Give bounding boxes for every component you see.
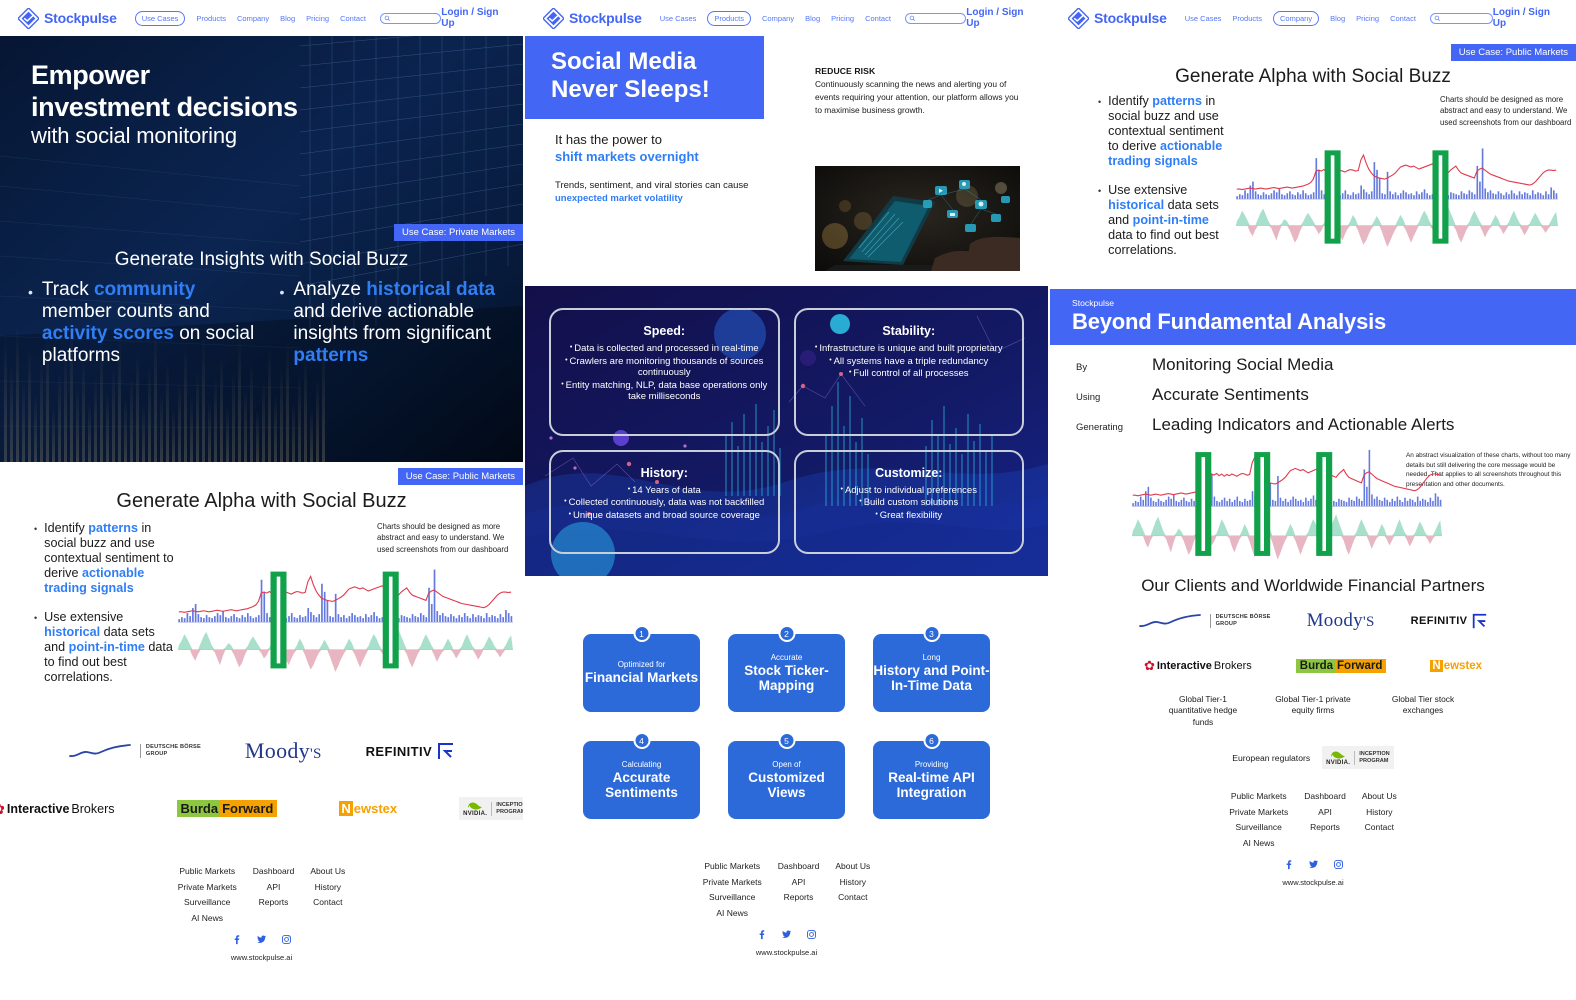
bullet-dot-icon: • [1098,94,1101,170]
capability-kicker: Optimized for [618,660,666,669]
footer-link[interactable]: About Us [310,866,345,876]
feature-card-title: Speed: [561,324,768,338]
step-number-badge: 6 [923,732,940,749]
nav-link-contact[interactable]: Contact [340,14,366,23]
feature-item: Adjust to individual preferences [806,485,1013,497]
nav-link-use-cases[interactable]: Use Cases [660,14,697,23]
partner-logos-row-3b: ✿InteractiveBrokers BurdaForward Newstex [1050,658,1576,674]
brand-name: Stockpulse [44,10,117,26]
search-input[interactable] [380,13,441,24]
bfa-row: Using Accurate Sentiments [1076,385,1576,405]
instagram-icon[interactable] [806,927,817,945]
reduce-risk-title: REDUCE RISK [815,66,1030,76]
feature-item: 14 Years of data [561,485,768,497]
footer-link[interactable]: Reports [259,897,289,907]
alpha-bullet-text: Identify patterns in social buzz and use… [1108,94,1236,170]
footer-link[interactable]: Private Markets [1229,807,1288,817]
usecase-tag-public-markets-3: Use Case: Public Markets [1451,44,1576,61]
feature-item: Entity matching, NLP, data base operatio… [561,380,768,403]
refinitiv-logo: REFINITIV [1411,613,1489,630]
step-number-badge: 2 [778,625,795,642]
nav-link-contact[interactable]: Contact [1390,14,1416,23]
feature-item: Data is collected and processed in real-… [561,343,768,355]
search-icon [909,9,916,27]
footer-col-2: Dashboard API Reports [1304,791,1346,848]
buzz-sentiment-chart-1 [178,565,523,680]
footer-links-1: Public Markets Private Markets Surveilla… [0,866,523,923]
twitter-icon[interactable] [256,932,267,950]
interactive-brokers-logo: ✿InteractiveBrokers [0,800,115,818]
brand-logo[interactable]: Stockpulse [18,8,117,29]
bfa-row-label: By [1076,362,1152,373]
bfa-title: Beyond Fundamental Analysis [1072,309,1576,335]
brand-logo[interactable]: Stockpulse [1068,8,1167,29]
alpha-chart-note-3: Charts should be designed as more abstra… [1440,94,1572,128]
nav-link-products[interactable]: Products [1232,14,1262,23]
search-icon [1434,9,1441,27]
footer-link[interactable]: Public Markets [704,861,760,871]
step-number-badge: 5 [778,732,795,749]
nav-link-pricing[interactable]: Pricing [306,14,329,23]
capability-title: History and Point-In-Time Data [873,663,990,693]
footer-link[interactable]: History [840,877,866,887]
bullet-dot-icon: • [34,521,37,597]
facebook-icon[interactable] [1283,857,1294,875]
bfa-row: By Monitoring Social Media [1076,355,1576,375]
twitter-icon[interactable] [781,927,792,945]
feature-item: Collected continuously, data was not bac… [561,497,768,509]
european-regulators-label: European regulators [1232,753,1310,763]
alpha-chart-note-1: Charts should be designed as more abstra… [377,521,517,555]
presentation-page: Stockpulse Use Cases Products Company Bl… [0,0,1576,1000]
footer-col-1: Public Markets Private Markets Surveilla… [1229,791,1288,848]
step-number-badge: 4 [633,732,650,749]
social-media-banner: Social Media Never Sleeps! [525,36,764,119]
footer-link[interactable]: About Us [1362,791,1397,801]
usecase-tag-private-markets: Use Case: Private Markets [394,224,523,241]
nav-link-company[interactable]: Company [237,14,269,23]
nvidia-inception-logo: NVIDIA. INCEPTIONPROGRAM [1322,746,1394,769]
nav-link-company[interactable]: Company [762,14,794,23]
bullet-dot-icon: • [1098,183,1101,259]
footer-col-1: Public Markets Private Markets Surveilla… [703,861,762,918]
capability-kicker: Long [923,653,941,662]
alpha-bullet-text: Use extensive historical data sets and p… [1108,183,1236,259]
capability-box-1: 1 Optimized for Financial Markets [583,634,700,712]
site-url-2[interactable]: www.stockpulse.ai [525,948,1048,957]
site-navbar-2: Stockpulse Use Cases Products Company Bl… [525,0,1048,36]
feature-card-title: History: [561,466,768,480]
feature-item: Unique datasets and broad source coverag… [561,510,768,522]
footer-link[interactable]: Contact [313,897,342,907]
nav-links-2: Use Cases Products Company Blog Pricing … [660,11,891,26]
bullet-dot-icon: • [34,610,37,686]
capability-kicker: Open of [772,760,800,769]
bfa-row-label: Generating [1076,422,1152,433]
refinitiv-logo: REFINITIV [366,742,455,761]
footer-col-2: Dashboard API Reports [778,861,820,918]
stockpulse-diamond-logo-icon [1068,8,1089,29]
footer-link[interactable]: Reports [1310,822,1340,832]
footer-link[interactable]: Surveillance [1236,822,1282,832]
brand-name: Stockpulse [569,10,642,26]
brand-logo[interactable]: Stockpulse [543,8,642,29]
search-input[interactable] [1430,13,1493,24]
tier-label: Global Tier-1 quantitative hedge funds [1162,694,1244,728]
nav-link-pricing[interactable]: Pricing [831,14,854,23]
interactive-brokers-logo: ✿InteractiveBrokers [1144,658,1252,674]
client-tier-labels: Global Tier-1 quantitative hedge funds G… [1050,694,1576,728]
footer-link[interactable]: AI News [191,913,223,923]
footer-link[interactable]: API [267,882,281,892]
bfa-section: Stockpulse Beyond Fundamental Analysis B… [1050,289,1576,570]
capability-box-6: 6 Providing Real-time API Integration [873,741,990,819]
footer-col-1: Public Markets Private Markets Surveilla… [178,866,237,923]
nav-link-use-cases[interactable]: Use Cases [135,11,186,26]
hero-title: Empower investment decisions with social… [31,60,298,149]
sm-banner-line2: Never Sleeps! [551,76,750,104]
feature-card-customize: Customize: Adjust to individual preferen… [794,450,1025,554]
moodys-logo: Moody'S [1307,610,1375,632]
footer-link[interactable]: History [1366,807,1392,817]
bullet-dot-icon: • [28,279,33,367]
alpha-bullets-1: • Identify patterns in social buzz and u… [0,521,178,698]
footer-col-3: About Us History Contact [1362,791,1397,848]
feature-card-history: History: 14 Years of data Collected cont… [549,450,780,554]
alpha-bullet-text: Use extensive historical data sets and p… [44,610,178,686]
footer-link[interactable]: Public Markets [179,866,235,876]
nav-link-products[interactable]: Products [707,11,751,26]
alpha-bullet-item: • Identify patterns in social buzz and u… [34,521,178,597]
laptop-social-network-photo [815,166,1020,271]
search-input[interactable] [905,13,966,24]
footer-link[interactable]: Dashboard [253,866,295,876]
capability-title: Financial Markets [585,670,698,685]
alpha-bullet-item: • Use extensive historical data sets and… [34,610,178,686]
nav-link-use-cases[interactable]: Use Cases [1185,14,1222,23]
feature-cards-panel: Speed: Data is collected and processed i… [525,286,1048,576]
partner-logos-row-3a: DEUTSCHE BÖRSEGROUP Moody'S REFINITIV [1050,610,1576,632]
footer-link[interactable]: Dashboard [778,861,820,871]
social-links-1 [0,932,523,950]
hero-bullet-columns: • Track community member counts and acti… [28,279,509,367]
stockpulse-diamond-logo-icon [543,8,564,29]
nav-link-pricing[interactable]: Pricing [1356,14,1379,23]
footer-link[interactable]: API [1318,807,1332,817]
login-signup-link[interactable]: Login / Sign Up [966,7,1028,29]
footer-link[interactable]: Surveillance [709,892,755,902]
sm-banner-line1: Social Media [551,48,750,76]
feature-card-title: Stability: [806,324,1013,338]
instagram-icon[interactable] [1333,857,1344,875]
capability-title: Stock Ticker-Mapping [728,663,845,693]
footer-link[interactable]: Contact [838,892,867,902]
usecase-tag-public-markets-1: Use Case: Public Markets [398,468,523,485]
hero-bullet-1-text: Track community member counts and activi… [42,279,258,367]
feature-item: All systems have a triple redundancy [806,356,1013,368]
hero-title-line1: Empower [31,60,298,92]
feature-item: Full control of all processes [806,368,1013,380]
bullet-dot-icon: • [280,279,285,367]
tier-label: Global Tier-1 private equity firms [1268,694,1358,728]
social-media-section: Social Media Never Sleeps! It has the po… [525,36,1048,286]
feature-cards-grid: Speed: Data is collected and processed i… [525,286,1048,576]
social-media-subtitle: It has the power to shift markets overni… [555,131,1048,166]
footer-link[interactable]: Private Markets [178,882,237,892]
tier-label: Global Tier stock exchanges [1382,694,1464,728]
social-media-description: Trends, sentiment, and viral stories can… [555,179,755,206]
alpha-bullets-3: • Identify patterns in social buzz and u… [1050,94,1236,271]
reduce-risk-block: REDUCE RISK Continuously scanning the ne… [815,66,1030,117]
footer-col-3: About Us History Contact [310,866,345,923]
bfa-row-label: Using [1076,392,1152,403]
capability-box-4: 4 Calculating Accurate Sentiments [583,741,700,819]
feature-item: Crawlers are monitoring thousands of sou… [561,356,768,379]
alpha-section-1: Use Case: Public Markets Generate Alpha … [0,462,523,698]
capability-title: Accurate Sentiments [583,770,700,800]
capability-kicker: Calculating [622,760,662,769]
partner-logos-row-2: ✿InteractiveBrokers BurdaForward Newstex… [0,797,523,820]
column-company: Stockpulse Use Cases Products Company Bl… [1050,0,1576,1000]
capability-box-5: 5 Open of Customized Views [728,741,845,819]
capabilities-grid: 1 Optimized for Financial Markets 2 Accu… [525,624,1048,819]
footer-link[interactable]: History [315,882,341,892]
newstex-logo: Newstex [1430,660,1482,672]
social-links-2 [525,927,1048,945]
footer-link[interactable]: About Us [835,861,870,871]
login-signup-link[interactable]: Login / Sign Up [441,7,503,29]
site-navbar-1: Stockpulse Use Cases Products Company Bl… [0,0,523,36]
newstex-logo: Newstex [339,801,397,816]
footer-link[interactable]: Contact [1365,822,1394,832]
search-icon [384,9,391,27]
ib-flame-icon: ✿ [1144,658,1155,674]
hero-subtitle: Generate Insights with Social Buzz [0,249,523,271]
facebook-icon[interactable] [756,927,767,945]
deutsche-borse-logo: DEUTSCHE BÖRSEGROUP [68,743,201,759]
footer-link[interactable]: AI News [1243,838,1275,848]
feature-item: Great flexibility [806,510,1013,522]
feature-item: Build custom solutions [806,497,1013,509]
bfa-kicker: Stockpulse [1072,298,1576,308]
nav-link-company[interactable]: Company [1273,11,1319,26]
instagram-icon[interactable] [281,932,292,950]
bfa-rows: By Monitoring Social Media Using Accurat… [1076,355,1576,435]
nav-links-3: Use Cases Products Company Blog Pricing … [1185,11,1416,26]
login-signup-link[interactable]: Login / Sign Up [1493,7,1556,29]
ib-flame-icon: ✿ [0,800,5,818]
footer-links-2: Public Markets Private Markets Surveilla… [525,861,1048,918]
hero-section: Empower investment decisions with social… [0,36,523,462]
footer-link[interactable]: Private Markets [703,877,762,887]
alpha-bullet-item: • Identify patterns in social buzz and u… [1098,94,1236,170]
site-url-1[interactable]: www.stockpulse.ai [0,953,523,962]
footer-col-2: Dashboard API Reports [253,866,295,923]
nav-link-contact[interactable]: Contact [865,14,891,23]
partner-logos-row-1: DEUTSCHE BÖRSEGROUP Moody'S REFINITIV [0,738,523,764]
nav-link-blog[interactable]: Blog [805,14,820,23]
feature-item: Infrastructure is unique and built propr… [806,343,1013,355]
feature-card-title: Customize: [806,466,1013,480]
feature-card-stability: Stability: Infrastructure is unique and … [794,308,1025,436]
hero-title-line2: investment decisions [31,92,298,124]
nav-link-blog[interactable]: Blog [280,14,295,23]
footer-link[interactable]: Reports [784,892,814,902]
column-products: Stockpulse Use Cases Products Company Bl… [525,0,1048,1000]
feature-card-speed: Speed: Data is collected and processed i… [549,308,780,436]
alpha-title-1: Generate Alpha with Social Buzz [0,490,523,513]
alpha-section-3: Use Case: Public Markets Generate Alpha … [1050,36,1576,271]
step-number-badge: 1 [633,625,650,642]
capability-title: Customized Views [728,770,845,800]
nav-link-blog[interactable]: Blog [1330,14,1345,23]
brand-name: Stockpulse [1094,10,1167,26]
social-links-3 [1050,857,1576,875]
capability-box-3: 3 Long History and Point-In-Time Data [873,634,990,712]
footer-link[interactable]: Public Markets [1231,791,1287,801]
buzz-sentiment-chart-3 [1236,144,1576,255]
footer-link[interactable]: AI News [716,908,748,918]
nav-link-products[interactable]: Products [196,14,226,23]
alpha-bullet-text: Identify patterns in social buzz and use… [44,521,178,597]
footer-link[interactable]: Surveillance [184,897,230,907]
site-url-3[interactable]: www.stockpulse.ai [1050,878,1576,887]
footer-link[interactable]: Dashboard [1304,791,1346,801]
burdaforward-logo: BurdaForward [177,801,278,816]
capability-kicker: Accurate [771,653,803,662]
footer-col-3: About Us History Contact [835,861,870,918]
bfa-buzz-chart [1132,445,1442,568]
deutsche-borse-logo: DEUTSCHE BÖRSEGROUP [1138,613,1271,629]
nav-links-1: Use Cases Products Company Blog Pricing … [135,11,366,26]
alpha-title-3: Generate Alpha with Social Buzz [1050,66,1576,88]
burdaforward-logo: BurdaForward [1296,660,1387,672]
bfa-banner: Stockpulse Beyond Fundamental Analysis [1050,289,1576,345]
hero-bullet-2: • Analyze historical data and derive act… [280,279,510,367]
hero-bullet-1: • Track community member counts and acti… [28,279,258,367]
bfa-row-value: Leading Indicators and Actionable Alerts [1152,415,1454,435]
hero-bullet-2-text: Analyze historical data and derive actio… [293,279,509,367]
column-private-markets: Stockpulse Use Cases Products Company Bl… [0,0,523,1000]
twitter-icon[interactable] [1308,857,1319,875]
site-navbar-3: Stockpulse Use Cases Products Company Bl… [1050,0,1576,36]
step-number-badge: 3 [923,625,940,642]
alpha-bullet-item: • Use extensive historical data sets and… [1098,183,1236,259]
facebook-icon[interactable] [231,932,242,950]
bfa-row: Generating Leading Indicators and Action… [1076,415,1576,435]
moodys-logo: Moody'S [245,738,322,764]
clients-title: Our Clients and Worldwide Financial Part… [1050,576,1576,596]
reduce-risk-text: Continuously scanning the news and alert… [815,78,1020,117]
nvidia-inception-logo: NVIDIA. INCEPTIONPROGRAM [459,797,523,820]
capability-box-2: 2 Accurate Stock Ticker-Mapping [728,634,845,712]
hero-title-line3: with social monitoring [31,123,298,149]
regulators-row: European regulators NVIDIA. INCEPTIONPRO… [1050,746,1576,769]
footer-link[interactable]: API [792,877,806,887]
stockpulse-diamond-logo-icon [18,8,39,29]
capability-title: Real-time API Integration [873,770,990,800]
bfa-row-value: Monitoring Social Media [1152,355,1333,375]
capability-kicker: Providing [915,760,948,769]
bfa-row-value: Accurate Sentiments [1152,385,1309,405]
footer-links-3: Public Markets Private Markets Surveilla… [1050,791,1576,848]
